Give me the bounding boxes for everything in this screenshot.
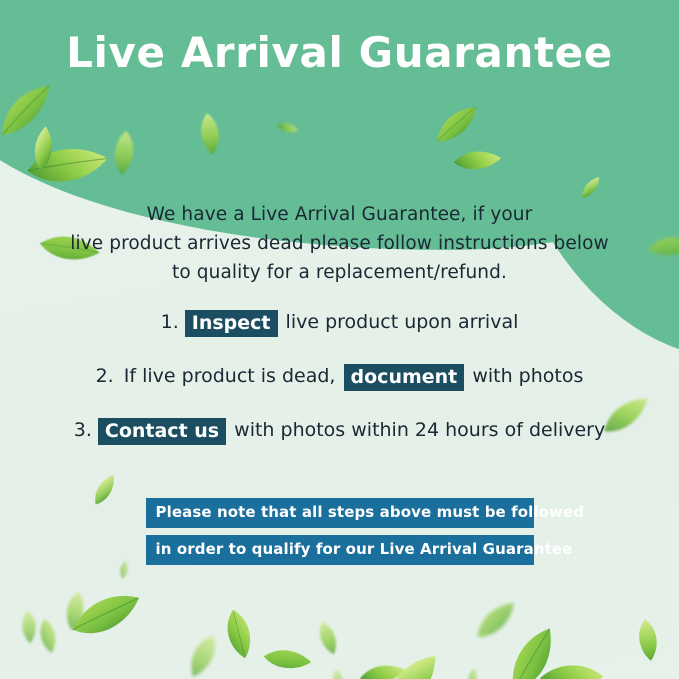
step-number: 2. [96,365,114,387]
intro-paragraph: We have a Live Arrival Guarantee, if you… [70,200,610,287]
leaf-icon [631,616,665,663]
step-text-after: live product upon arrival [286,311,519,333]
step-text-after: with photos [472,365,583,387]
leaf-icon [535,649,607,679]
leaf-icon [177,627,229,679]
leaf-icon [491,621,574,679]
leaf-icon [365,644,457,679]
step-item-1: 1.Inspect live product upon arrival [0,309,679,336]
leaf-icon [59,588,92,634]
leaf-icon [17,609,41,644]
step-text-after: with photos within 24 hours of delivery [234,419,605,441]
main-content: We have a Live Arrival Guarantee, if you… [0,200,679,471]
intro-line-1: We have a Live Arrival Guarantee, if you… [70,200,610,229]
step-number: 1. [161,311,179,333]
step-item-2: 2. If live product is dead, document wit… [0,363,679,390]
leaf-icon [328,667,347,679]
intro-line-3: to quality for a replacement/refund. [70,258,610,287]
leaf-icon [68,588,145,643]
page-title: Live Arrival Guarantee [0,28,679,77]
live-arrival-guarantee-poster: Live Arrival Guarantee [0,0,679,679]
leaf-icon [465,668,481,679]
step-number: 3. [74,419,92,441]
footer-note-line-1: Please note that all steps above must be… [146,498,534,528]
intro-line-2: live product arrives dead please follow … [70,229,610,258]
leaf-icon [257,631,317,679]
steps-list: 1.Inspect live product upon arrival 2. I… [0,309,679,444]
footer-note-line-2: in order to qualify for our Live Arrival… [146,535,534,565]
leaf-icon [357,655,407,679]
leaf-icon [216,605,262,664]
step-keyword-document: document [344,364,465,391]
leaf-icon [311,617,346,659]
step-text-before: If live product is dead, [124,365,336,387]
step-item-3: 3.Contact us with photos within 24 hours… [0,417,679,444]
step-keyword-inspect: Inspect [185,310,278,337]
footer-note: Please note that all steps above must be… [0,498,679,572]
leaf-icon [33,616,64,656]
step-keyword-contact-us: Contact us [98,418,226,445]
leaf-icon [468,597,524,644]
